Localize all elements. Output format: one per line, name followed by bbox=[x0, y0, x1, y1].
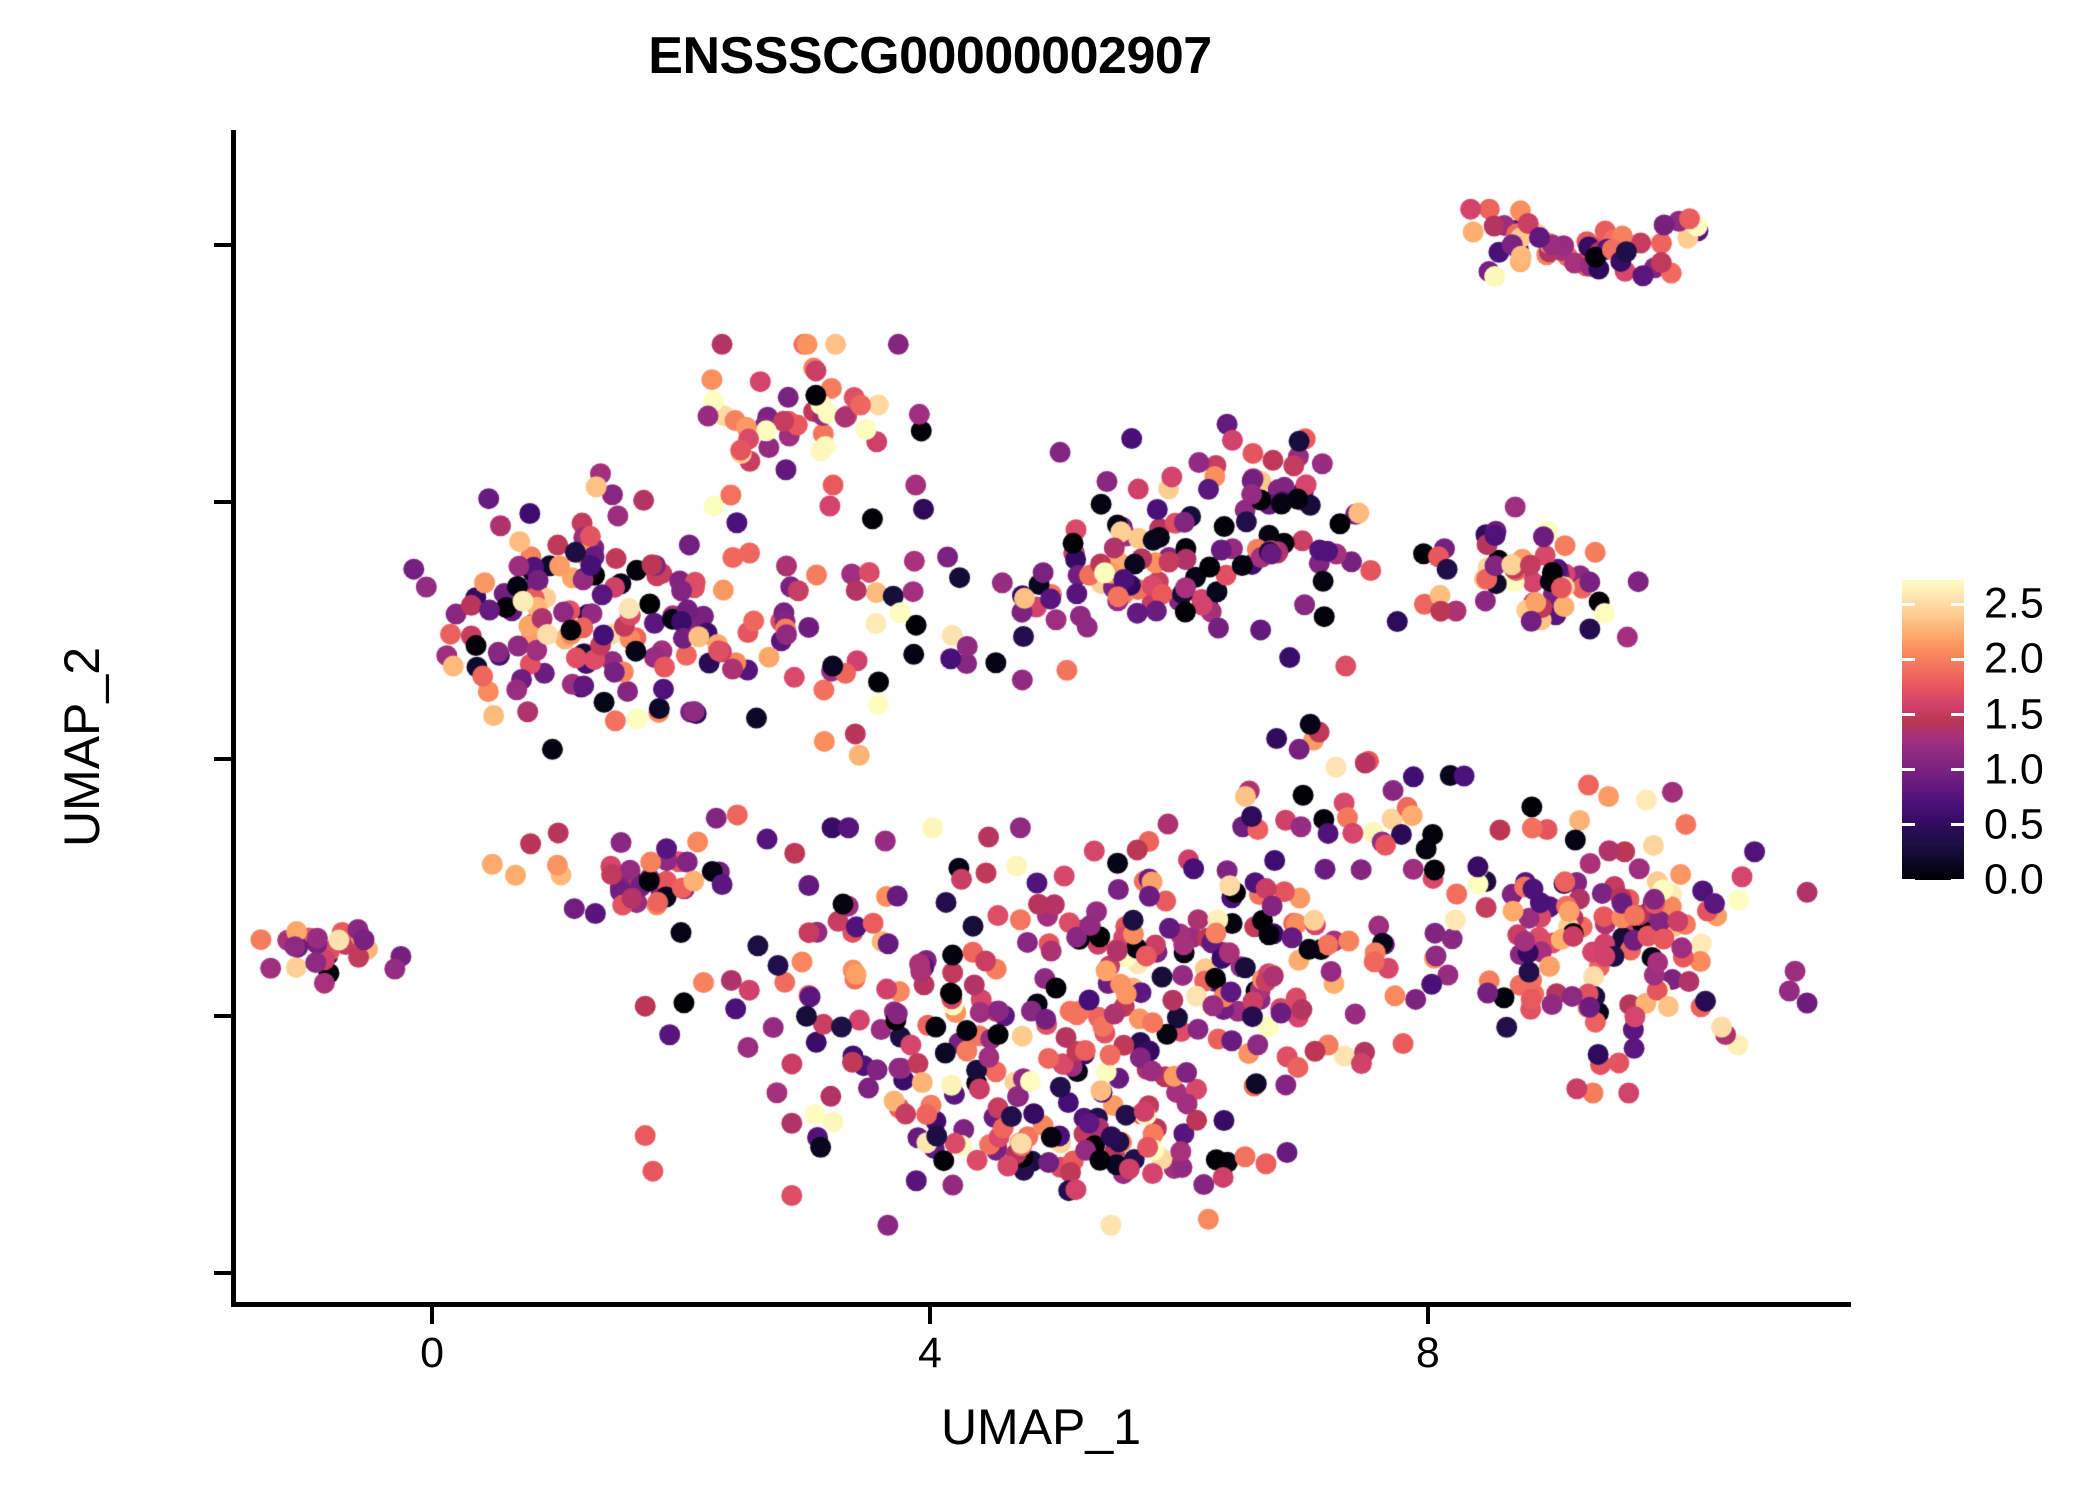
legend-tick-label: 0.5 bbox=[1984, 800, 2044, 849]
x-tick-label: 4 bbox=[918, 1329, 942, 1378]
legend-tick-label: 2.5 bbox=[1984, 580, 2044, 629]
legend-tick-mark bbox=[1951, 658, 1964, 661]
legend-tick-mark bbox=[1902, 768, 1915, 771]
legend-tick-mark bbox=[1902, 823, 1915, 826]
y-axis-title: UMAP_2 bbox=[53, 159, 111, 1335]
y-tick-mark bbox=[214, 500, 231, 504]
x-tick-mark bbox=[430, 1307, 434, 1324]
y-tick-mark bbox=[214, 757, 231, 761]
legend-tick-label: 2.0 bbox=[1984, 635, 2044, 684]
legend-tick-mark bbox=[1902, 713, 1915, 716]
legend-tick-mark bbox=[1951, 768, 1964, 771]
legend-tick-mark bbox=[1951, 823, 1964, 826]
legend-colorbar bbox=[1902, 580, 1964, 880]
legend-tick-mark bbox=[1902, 658, 1915, 661]
legend-tick-mark bbox=[1951, 713, 1964, 716]
x-tick-mark bbox=[1426, 1307, 1430, 1324]
page-title: ENSSSCG00000002907 bbox=[0, 26, 1860, 86]
legend-tick-mark bbox=[1902, 879, 1915, 882]
legend-tick-label: 1.5 bbox=[1984, 690, 2044, 739]
y-axis-line bbox=[231, 130, 236, 1306]
y-tick-mark bbox=[214, 1014, 231, 1018]
legend-tick-label: 0.0 bbox=[1984, 856, 2044, 905]
x-tick-mark bbox=[928, 1307, 932, 1324]
legend-tick-mark bbox=[1951, 879, 1964, 882]
legend-tick-mark bbox=[1951, 603, 1964, 606]
y-tick-mark bbox=[214, 1271, 231, 1275]
y-tick-mark bbox=[214, 243, 231, 247]
x-axis-title: UMAP_1 bbox=[231, 1398, 1851, 1456]
color-legend: 0.00.51.01.52.02.5 bbox=[1902, 580, 1964, 880]
legend-tick-mark bbox=[1902, 603, 1915, 606]
legend-tick-label: 1.0 bbox=[1984, 745, 2044, 794]
x-tick-label: 0 bbox=[420, 1329, 444, 1378]
plot-root: ENSSSCG00000002907 -2.50.02.55.07.5 048 … bbox=[0, 0, 2100, 1500]
x-tick-label: 8 bbox=[1416, 1329, 1440, 1378]
scatter-plot-canvas bbox=[0, 0, 2100, 1500]
x-axis-line bbox=[231, 1302, 1851, 1307]
